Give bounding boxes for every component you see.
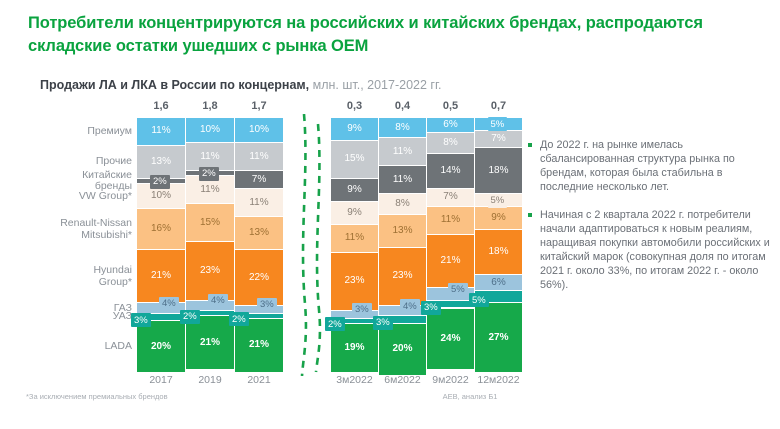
segment-value-label: 15%	[344, 154, 364, 164]
segment-value-callout: 3%	[131, 313, 151, 327]
chart-row-label: Прочие	[96, 156, 132, 168]
column-total-value: 0,7	[475, 100, 522, 112]
segment-value-label: 14%	[440, 166, 460, 176]
segment-value-label: 11%	[441, 215, 460, 225]
dashed-break-icon	[296, 114, 330, 376]
commentary-bullet: До 2022 г. на рынке имелась сбалансирова…	[528, 138, 774, 195]
segment-value-callout: 3%	[421, 301, 441, 315]
segment-value-label: 8%	[395, 199, 409, 209]
chart-row-label: VW Group*	[79, 191, 132, 203]
chart-segment[interactable]: 21%	[235, 319, 283, 372]
segment-value-label: 24%	[440, 334, 460, 344]
segment-value-label: 13%	[151, 157, 171, 167]
segment-value-label: 6%	[443, 120, 457, 130]
chart-row-label: Премиум	[87, 126, 132, 138]
segment-value-label: 19%	[344, 343, 364, 353]
chart-row-label: Renault-NissanMitsubishi*	[60, 218, 132, 242]
chart-segment[interactable]: 13%	[235, 217, 283, 250]
chart-column[interactable]: 7%18%9%18%6%27%	[475, 118, 522, 372]
column-total-value: 0,5	[427, 100, 474, 112]
chart-segment[interactable]: 8%	[379, 118, 426, 138]
segment-value-label: 22%	[249, 273, 269, 283]
segment-value-label: 11%	[249, 152, 268, 162]
chart-segment[interactable]: 11%	[379, 166, 426, 194]
chart-segment[interactable]: 27%	[475, 303, 522, 372]
segment-value-label: 10%	[151, 191, 171, 201]
segment-value-label: 11%	[345, 233, 364, 243]
chart-source: AEB, анализ Б1	[400, 392, 540, 401]
segment-value-callout: 3%	[352, 303, 372, 317]
chart-column[interactable]: 9%15%9%9%11%23%19%	[331, 118, 378, 372]
segment-value-callout: 5%	[488, 117, 508, 131]
segment-value-label: 9%	[347, 124, 361, 134]
chart-break-divider	[296, 114, 330, 376]
commentary-bullets: До 2022 г. на рынке имелась сбалансирова…	[528, 138, 774, 305]
segment-value-label: 21%	[249, 340, 269, 350]
segment-value-label: 18%	[488, 247, 508, 257]
segment-value-label: 23%	[344, 276, 364, 286]
chart-segment[interactable]: 21%	[137, 250, 185, 303]
commentary-bullet: Начиная с 2 квартала 2022 г. потребители…	[528, 208, 774, 293]
chart-segment[interactable]: 23%	[379, 248, 426, 306]
chart-column[interactable]: 11%13%10%16%21%20%	[137, 118, 185, 372]
chart-segment[interactable]: 9%	[331, 202, 378, 225]
segment-value-label: 11%	[200, 185, 219, 195]
chart-segment[interactable]: 20%	[379, 324, 426, 375]
column-total-value: 1,8	[186, 100, 234, 112]
chart-column[interactable]: 10%11%7%11%13%22%21%	[235, 118, 283, 372]
chart-segment[interactable]: 11%	[427, 207, 474, 235]
segment-value-label: 7%	[443, 192, 457, 202]
chart-segment[interactable]: 11%	[137, 118, 185, 146]
segment-value-label: 8%	[443, 138, 457, 148]
chart-row-label: LADA	[105, 341, 132, 353]
column-total-value: 1,6	[137, 100, 185, 112]
chart-segment[interactable]: 14%	[427, 154, 474, 190]
chart-row-label: HyundaiGroup*	[93, 265, 132, 289]
chart-segment[interactable]: 8%	[379, 194, 426, 214]
segment-value-label: 27%	[488, 333, 508, 343]
chart-segment[interactable]: 20%	[137, 321, 185, 372]
segment-value-label: 9%	[347, 208, 361, 218]
bullet-dot-icon	[528, 213, 532, 217]
chart-segment[interactable]: 8%	[427, 133, 474, 153]
segment-value-label: 10%	[200, 125, 220, 135]
chart-segment[interactable]: 15%	[186, 204, 234, 242]
column-total-value: 1,7	[235, 100, 283, 112]
chart-segment[interactable]: 18%	[475, 230, 522, 276]
segment-value-label: 6%	[491, 278, 505, 288]
segment-value-label: 15%	[200, 218, 220, 228]
chart-column[interactable]: 10%11%11%15%23%21%	[186, 118, 234, 372]
segment-value-callout: 2%	[229, 312, 249, 326]
segment-value-callout: 4%	[159, 297, 179, 311]
chart-segment[interactable]: 11%	[235, 189, 283, 217]
segment-value-callout: 3%	[373, 316, 393, 330]
segment-value-label: 10%	[249, 125, 269, 135]
chart-row-label: УАЗ	[113, 311, 132, 323]
segment-value-label: 11%	[151, 126, 170, 136]
segment-value-label: 13%	[392, 226, 412, 236]
chart-segment[interactable]: 9%	[331, 179, 378, 202]
chart-segment[interactable]: 21%	[186, 316, 234, 369]
chart-segment[interactable]: 11%	[379, 138, 426, 166]
chart-segment[interactable]: 15%	[331, 141, 378, 179]
segment-value-label: 21%	[440, 256, 460, 266]
chart-column[interactable]: 8%11%11%8%13%23%20%	[379, 118, 426, 372]
segment-value-label: 7%	[252, 175, 266, 185]
slide-root: Потребители концентрируются на российски…	[0, 0, 780, 429]
chart-segment[interactable]: 6%	[427, 118, 474, 133]
segment-value-label: 21%	[151, 271, 171, 281]
column-total-value: 0,3	[331, 100, 378, 112]
segment-value-label: 11%	[200, 152, 219, 162]
chart-row-labels: ПремиумПрочиеКитайскиебрендыVW Group*Ren…	[24, 118, 132, 372]
segment-value-label: 7%	[491, 134, 505, 144]
chart-segment[interactable]: 9%	[331, 118, 378, 141]
chart-segment[interactable]: 13%	[379, 215, 426, 248]
segment-value-label: 18%	[488, 166, 508, 176]
commentary-bullet-text: До 2022 г. на рынке имелась сбалансирова…	[540, 138, 774, 195]
segment-value-label: 11%	[393, 147, 412, 157]
chart-segment[interactable]: 7%	[235, 171, 283, 189]
chart-segment[interactable]: 10%	[235, 118, 283, 143]
segment-value-callout: 4%	[400, 299, 420, 313]
segment-value-label: 11%	[249, 198, 268, 208]
column-total-value: 0,4	[379, 100, 426, 112]
segment-value-label: 21%	[200, 338, 220, 348]
chart-segment[interactable]: 11%	[235, 143, 283, 171]
segment-value-callout: 5%	[469, 293, 489, 307]
segment-value-callout: 4%	[208, 294, 228, 308]
chart-segment[interactable]: 18%	[475, 148, 522, 194]
segment-value-label: 23%	[392, 271, 412, 281]
segment-value-callout: 3%	[257, 298, 277, 312]
segment-value-label: 9%	[347, 185, 361, 195]
chart-segment[interactable]: 11%	[331, 225, 378, 253]
chart-footnote: *За исключением премиальных брендов	[26, 392, 168, 401]
chart-segment[interactable]: 24%	[427, 309, 474, 370]
segment-value-callout: 5%	[448, 283, 468, 297]
chart-x-label: 2021	[229, 374, 289, 386]
segment-value-label: 16%	[151, 224, 171, 234]
segment-value-callout: 2%	[199, 167, 219, 181]
segment-value-label: 8%	[395, 123, 409, 133]
chart-column[interactable]: 6%8%14%7%11%21%24%	[427, 118, 474, 372]
chart-segment[interactable]: 23%	[186, 242, 234, 300]
segment-value-label: 20%	[151, 342, 171, 352]
segment-value-callout: 5%	[488, 194, 508, 208]
chart-segment[interactable]: 9%	[475, 207, 522, 230]
segment-value-callout: 2%	[150, 175, 170, 189]
bullet-dot-icon	[528, 143, 532, 147]
chart-segment[interactable]: 7%	[427, 189, 474, 207]
chart-segment[interactable]: 21%	[427, 235, 474, 288]
segment-value-label: 13%	[249, 228, 269, 238]
segment-value-label: 9%	[491, 213, 505, 223]
chart-segment[interactable]: 16%	[137, 209, 185, 250]
segment-value-callout: 2%	[325, 317, 345, 331]
segment-value-label: 11%	[393, 175, 412, 185]
segment-value-callout: 2%	[180, 310, 200, 324]
chart-segment[interactable]: 10%	[186, 118, 234, 143]
segment-value-label: 20%	[392, 344, 412, 354]
chart-segment[interactable]: 7%	[475, 131, 522, 149]
commentary-bullet-text: Начиная с 2 квартала 2022 г. потребители…	[540, 208, 774, 293]
segment-value-label: 23%	[200, 266, 220, 276]
chart-segment[interactable]: 6%	[475, 275, 522, 290]
chart-x-label: 12м2022	[469, 374, 528, 386]
